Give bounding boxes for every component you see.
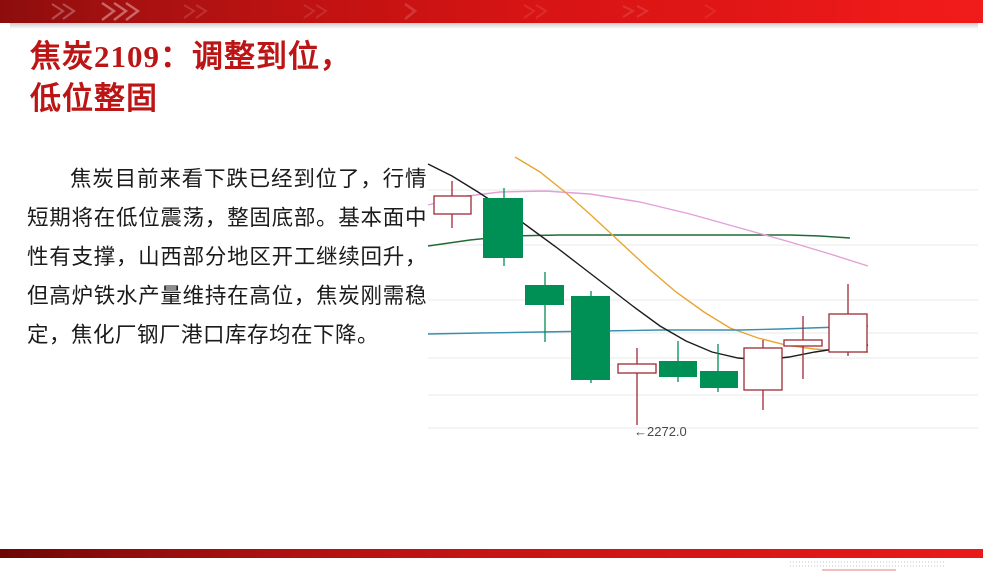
candle-3 xyxy=(571,291,610,383)
candlestick-series xyxy=(434,181,867,425)
candle-8 xyxy=(784,316,822,379)
candle-5 xyxy=(659,341,697,382)
candle-0 xyxy=(434,181,471,228)
ghost-text-line xyxy=(790,565,945,567)
page-title-line-1: 焦炭2109：调整到位， xyxy=(30,36,450,78)
ghost-accent-bar xyxy=(822,569,896,571)
body-paragraph: 焦炭目前来看下跌已经到位了，行情短期将在低位震荡，整固底部。基本面中性有支撑，山… xyxy=(27,160,427,355)
chart-svg xyxy=(425,148,980,448)
top-banner xyxy=(0,0,983,23)
ma-lines-group xyxy=(428,157,868,360)
candle-1 xyxy=(483,188,523,266)
banner-drop-shadow xyxy=(10,23,978,29)
ma-orange-line xyxy=(515,157,868,352)
footer-bar xyxy=(0,549,983,558)
banner-watermark-icon xyxy=(48,0,78,23)
banner-watermark-icon xyxy=(180,0,210,23)
candlestick-chart xyxy=(425,148,980,448)
candle-6 xyxy=(700,344,738,392)
candle-7 xyxy=(744,340,782,410)
banner-watermark-icon xyxy=(620,0,650,23)
banner-watermark-icon xyxy=(300,0,330,23)
presentation-slide: 焦炭2109：调整到位， 低位整固 焦炭目前来看下跌已经到位了，行情短期将在低位… xyxy=(0,0,983,573)
banner-watermark-icon xyxy=(700,0,730,23)
banner-watermark-icon xyxy=(96,0,142,23)
candle-9 xyxy=(829,284,867,356)
banner-watermark-icon xyxy=(400,0,430,23)
price-annotation-label: ←2272.0 xyxy=(634,424,687,439)
page-title: 焦炭2109：调整到位， 低位整固 xyxy=(30,36,450,120)
page-title-line-2: 低位整固 xyxy=(30,78,450,120)
candle-4 xyxy=(618,348,656,425)
banner-watermark-icon xyxy=(520,0,550,23)
ghost-text-line xyxy=(790,561,945,563)
footer-thumbnail-preview xyxy=(790,561,945,571)
